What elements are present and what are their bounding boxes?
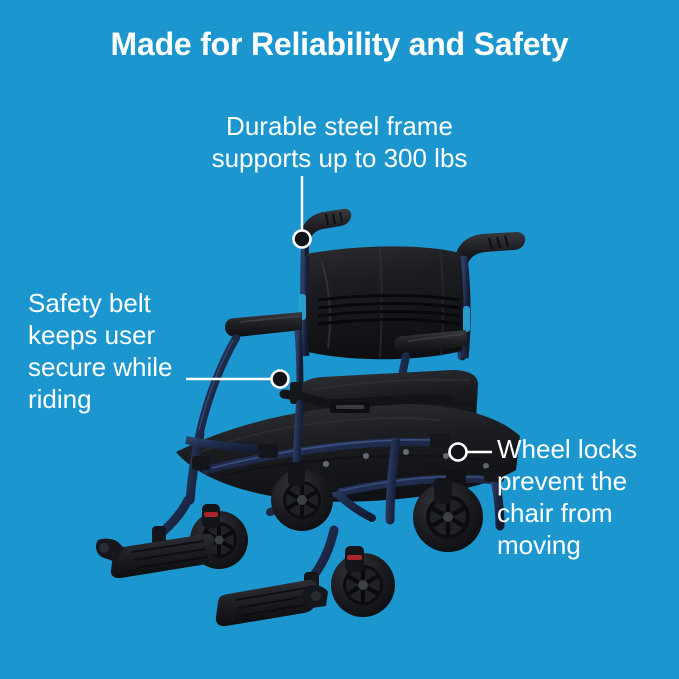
callout-marker-frame-capacity [294, 231, 311, 248]
page-title: Made for Reliability and Safety [0, 24, 679, 64]
callout-marker-wheel-locks [450, 444, 467, 461]
callout-marker-safety-belt [272, 371, 289, 388]
callout-label-safety-belt: Safety belt keeps user secure while ridi… [28, 287, 203, 415]
product-feature-poster: Made for Reliability and Safety Durable … [0, 0, 679, 679]
callout-label-frame-capacity: Durable steel frame supports up to 300 l… [0, 110, 679, 174]
callout-label-wheel-locks: Wheel locks prevent the chair from movin… [497, 433, 672, 561]
